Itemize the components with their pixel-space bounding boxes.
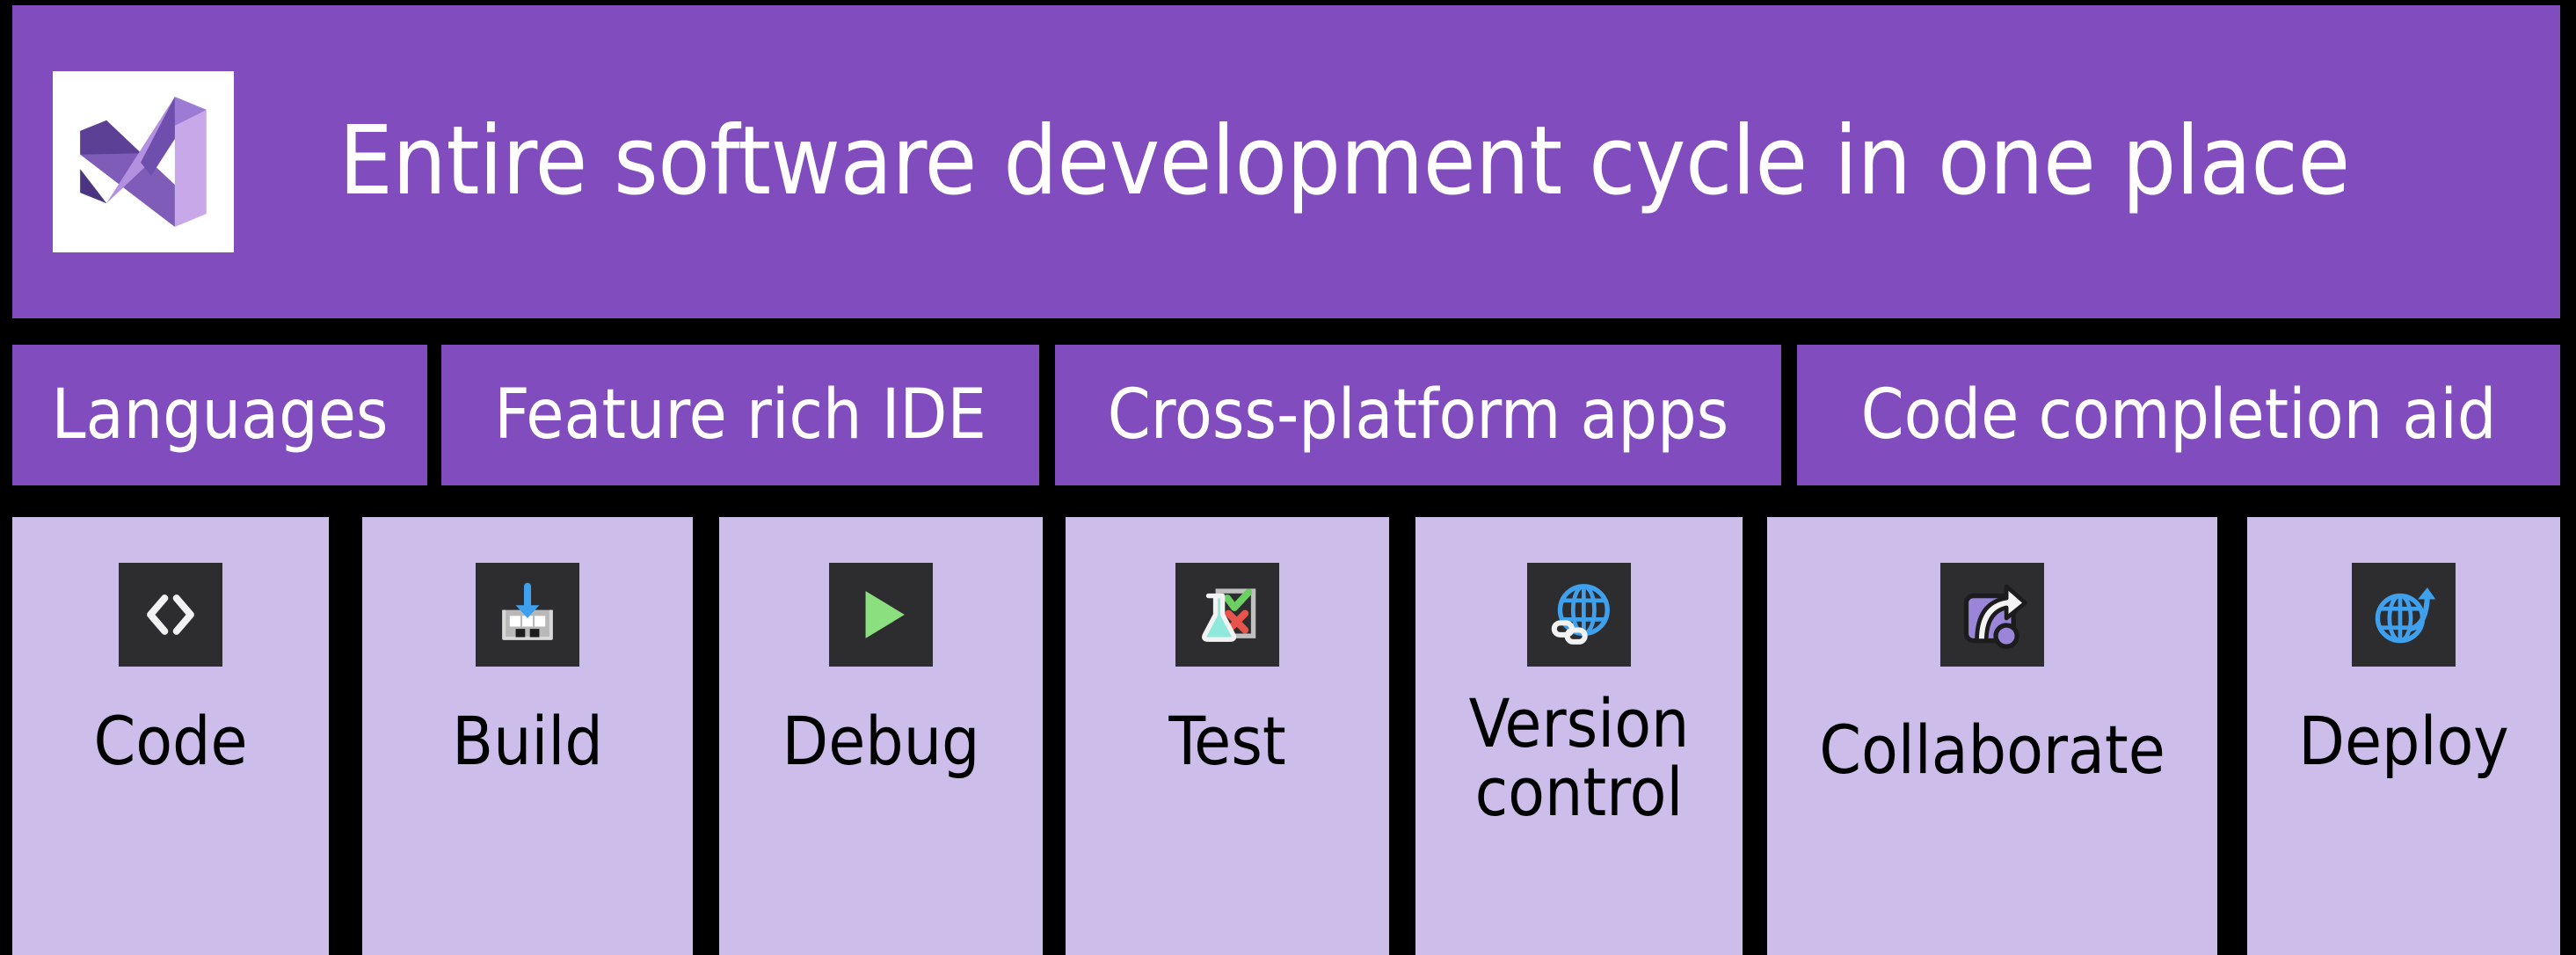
category-label: Languages xyxy=(12,375,427,455)
stage-label: Version control xyxy=(1415,689,1743,827)
page-title: Entire software development cycle in one… xyxy=(234,112,2560,211)
stage-label: Test xyxy=(1066,707,1389,776)
stage-card-code[interactable]: Code xyxy=(12,517,329,955)
globe-arrow-up-icon xyxy=(2352,563,2456,667)
category-row: Languages Feature rich IDE Cross-platfor… xyxy=(0,345,2576,485)
stage-card-deploy[interactable]: Deploy xyxy=(2247,517,2560,955)
stage-label: Collaborate xyxy=(1767,716,2217,784)
category-languages[interactable]: Languages xyxy=(12,345,427,485)
globe-link-icon xyxy=(1527,563,1631,667)
category-feature-rich-ide[interactable]: Feature rich IDE xyxy=(441,345,1039,485)
angle-brackets-icon xyxy=(119,563,222,667)
category-label: Feature rich IDE xyxy=(441,375,1039,455)
stage-card-collaborate[interactable]: Collaborate xyxy=(1767,517,2217,955)
share-arrow-icon xyxy=(1940,563,2044,667)
stage-card-debug[interactable]: Debug xyxy=(719,517,1043,955)
header-banner: Entire software development cycle in one… xyxy=(12,5,2560,318)
category-label: Cross-platform apps xyxy=(1055,375,1781,455)
stage-label: Deploy xyxy=(2247,707,2560,776)
visual-studio-logo-icon xyxy=(53,71,234,252)
stage-card-build[interactable]: Build xyxy=(362,517,693,955)
flask-checklist-icon xyxy=(1175,563,1279,667)
category-cross-platform-apps[interactable]: Cross-platform apps xyxy=(1055,345,1781,485)
stage-card-version-control[interactable]: Version control xyxy=(1415,517,1743,955)
stage-label: Code xyxy=(12,707,329,776)
stage-label: Build xyxy=(362,707,693,776)
stage-label: Debug xyxy=(719,707,1043,776)
category-label: Code completion aid xyxy=(1797,375,2560,455)
stage-card-test[interactable]: Test xyxy=(1066,517,1389,955)
stage-card-row: Code Build xyxy=(0,517,2576,955)
category-code-completion-aid[interactable]: Code completion aid xyxy=(1797,345,2560,485)
infographic-canvas: Entire software development cycle in one… xyxy=(0,0,2576,955)
build-bin-download-icon xyxy=(476,563,579,667)
play-triangle-icon xyxy=(829,563,933,667)
